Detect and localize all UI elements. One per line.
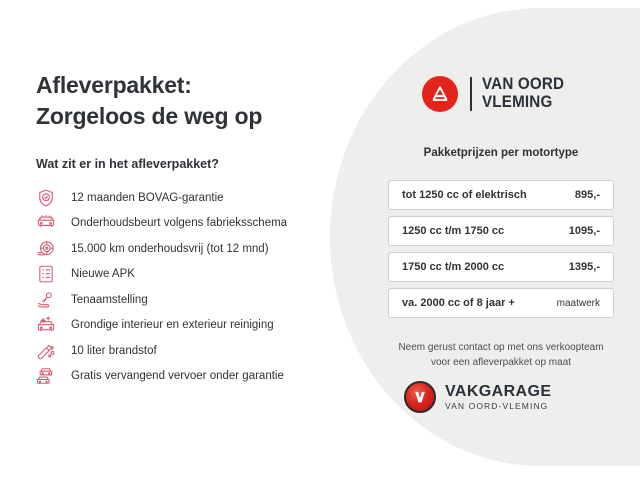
list-item: Onderhoudsbeurt volgens fabrieksschema [36,211,336,237]
list-item-label: Gratis vervangend vervoer onder garantie [71,370,284,382]
page-title: Afleverpakket: Zorgeloos de weg op [36,70,336,131]
price-row-label: 1250 cc t/m 1750 cc [402,225,504,237]
list-item-label: Nieuwe APK [71,268,135,280]
price-row-value: 895,- [575,189,600,201]
left-column: Afleverpakket: Zorgeloos de weg op Wat z… [36,70,336,405]
checklist-icon [36,263,62,285]
two-cars-icon [36,365,62,387]
list-item: 10 liter brandstof [36,338,336,364]
price-table: tot 1250 cc of elektrisch 895,- 1250 cc … [388,180,614,324]
list-item: Gratis vervangend vervoer onder garantie [36,364,336,390]
list-item-label: 10 liter brandstof [71,345,157,357]
car-service-icon [36,212,62,234]
price-row-value: 1395,- [569,261,600,273]
price-row-label: tot 1250 cc of elektrisch [402,189,527,201]
car-clean-icon [36,314,62,336]
a-monogram-icon [422,76,458,112]
prices-heading: Pakketprijzen per motortype [378,147,624,159]
price-row-label: 1750 cc t/m 2000 cc [402,261,504,273]
vakgarage-main-label: VAKGARAGE [445,384,551,400]
list-item-label: Tenaamstelling [71,294,148,306]
poster-canvas: Afleverpakket: Zorgeloos de weg op Wat z… [0,0,640,480]
list-item: Nieuwe APK [36,262,336,288]
vakgarage-wordmark: VAKGARAGE VAN OORD-VLEMING [445,384,551,411]
fuel-nozzle-icon [36,340,62,362]
v-badge-icon [404,381,436,413]
tire-wheel-icon [36,238,62,260]
list-item: Grondige interieur en exterieur reinigin… [36,313,336,339]
list-item-label: Onderhoudsbeurt volgens fabrieksschema [71,217,287,229]
list-item: 12 maanden BOVAG-garantie [36,185,336,211]
brand-lockup: VAN OORD VLEMING [422,76,571,112]
table-row: 1250 cc t/m 1750 cc 1095,- [388,216,614,246]
list-item-label: 12 maanden BOVAG-garantie [71,192,224,204]
section-subtitle: Wat zit er in het afleverpakket? [36,157,336,171]
list-item: 15.000 km onderhoudsvrij (tot 12 mnd) [36,236,336,262]
key-in-hand-icon [36,289,62,311]
table-row: 1750 cc t/m 2000 cc 1395,- [388,252,614,282]
brand-divider [470,77,472,111]
price-row-value: 1095,- [569,225,600,237]
feature-list: 12 maanden BOVAG-garantie Onderhoudsbeur… [36,185,336,389]
table-row: tot 1250 cc of elektrisch 895,- [388,180,614,210]
table-row: va. 2000 cc of 8 jaar + maatwerk [388,288,614,318]
vakgarage-sub-label: VAN OORD-VLEMING [445,402,551,411]
right-column: VAN OORD VLEMING Pakketprijzen per motor… [378,0,624,480]
contact-note: Neem gerust contact op met ons verkoopte… [378,340,624,370]
vakgarage-logo: VAKGARAGE VAN OORD-VLEMING [404,381,551,413]
shield-check-icon [36,187,62,209]
price-row-value: maatwerk [557,298,600,309]
list-item-label: 15.000 km onderhoudsvrij (tot 12 mnd) [71,243,269,255]
price-row-label: va. 2000 cc of 8 jaar + [402,297,515,309]
list-item: Tenaamstelling [36,287,336,313]
brand-name: VAN OORD VLEMING [482,76,564,112]
list-item-label: Grondige interieur en exterieur reinigin… [71,319,274,331]
